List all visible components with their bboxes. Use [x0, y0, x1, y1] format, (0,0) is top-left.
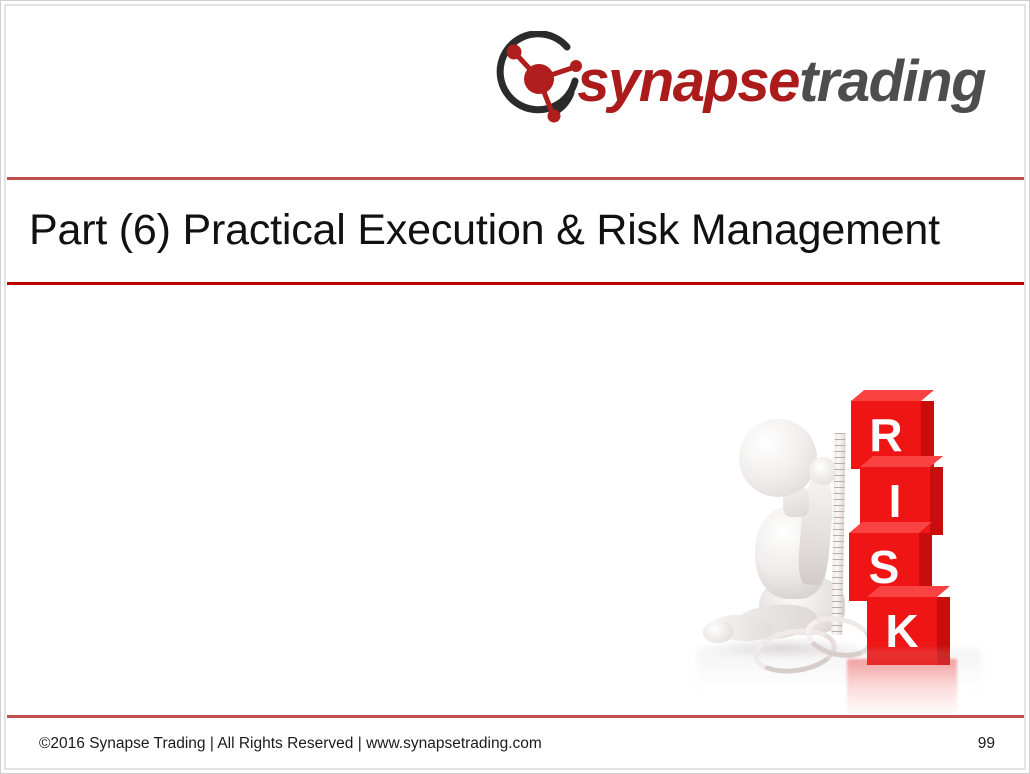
synapse-network-icon: [491, 31, 591, 131]
title-band: Part (6) Practical Execution & Risk Mana…: [7, 180, 1025, 282]
risk-cube-stack: R I S K: [845, 397, 955, 657]
copyright-text: ©2016 Synapse Trading | All Rights Reser…: [39, 735, 542, 753]
illustration-floor-reflection: [697, 649, 982, 691]
figure-hand: [809, 457, 837, 485]
slide-header: synapsetrading: [1, 1, 1030, 177]
risk-blocks-illustration: R I S K: [697, 391, 982, 691]
page-number: 99: [978, 735, 995, 753]
slide: synapsetrading Part (6) Practical Execut…: [0, 0, 1030, 774]
synapse-trading-logo: synapsetrading: [491, 29, 985, 129]
figure-head: [739, 419, 817, 497]
slide-body: R I S K: [7, 285, 1025, 715]
logo-word-synapse: synapse: [577, 49, 799, 114]
logo-word-trading: trading: [799, 49, 985, 114]
figure-foot: [703, 621, 733, 643]
logo-wordmark: synapsetrading: [577, 53, 985, 111]
slide-footer: ©2016 Synapse Trading | All Rights Reser…: [7, 718, 1025, 769]
page-title: Part (6) Practical Execution & Risk Mana…: [7, 208, 940, 253]
